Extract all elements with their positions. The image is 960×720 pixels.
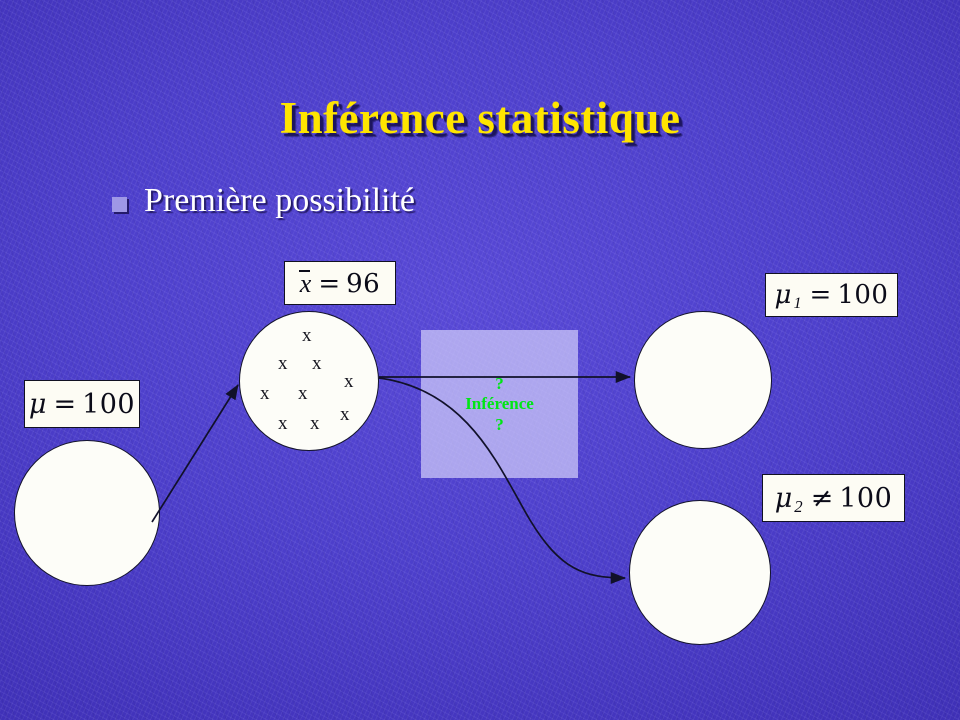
sample-observation: x bbox=[278, 354, 288, 373]
population-to-sample-arrow bbox=[152, 385, 238, 522]
sample-observation: x bbox=[310, 414, 320, 433]
hypothesis-2-value: 100 bbox=[839, 485, 892, 512]
population-operator: = bbox=[53, 391, 76, 418]
hypothesis-2-subscript: 2 bbox=[794, 499, 802, 516]
population-mean-value: 100 bbox=[82, 391, 135, 418]
hypothesis-2-circle[interactable] bbox=[629, 500, 771, 645]
population-circle[interactable] bbox=[14, 440, 160, 586]
hypothesis-1-value: 100 bbox=[837, 282, 888, 308]
sample-operator: = bbox=[318, 271, 340, 297]
sample-observation: x bbox=[302, 326, 312, 345]
bullet-row: Première possibilité bbox=[112, 182, 415, 220]
population-mu-symbol: μ bbox=[29, 391, 47, 418]
inference-panel: ? Inférence ? bbox=[421, 330, 578, 478]
sample-observation: x bbox=[312, 354, 322, 373]
square-bullet-icon bbox=[112, 197, 127, 212]
page-title: Inférence statistique bbox=[0, 92, 960, 144]
sample-xbar-symbol: x bbox=[300, 269, 312, 297]
hypothesis-1-subscript: 1 bbox=[793, 296, 801, 312]
slide-canvas: Inférence statistique Première possibili… bbox=[0, 0, 960, 720]
sample-observation: x bbox=[344, 372, 354, 391]
hypothesis-1-box: μ1 = 100 bbox=[765, 273, 898, 317]
sample-circle[interactable]: x x x x x x x x x bbox=[239, 311, 379, 451]
sample-mean-value: 96 bbox=[346, 271, 380, 297]
sample-observation: x bbox=[260, 384, 270, 403]
population-mean-box: μ = 100 bbox=[24, 380, 140, 428]
inference-question-top: ? bbox=[495, 374, 504, 393]
hypothesis-1-operator: = bbox=[810, 282, 832, 308]
hypothesis-2-box: μ2 ≠ 100 bbox=[762, 474, 905, 522]
inference-label: Inférence bbox=[465, 394, 534, 413]
inference-question-bottom: ? bbox=[495, 415, 504, 434]
hypothesis-2-operator: ≠ bbox=[811, 485, 834, 512]
sample-observation: x bbox=[278, 414, 288, 433]
sample-observation: x bbox=[298, 384, 308, 403]
hypothesis-1-circle[interactable] bbox=[634, 311, 772, 449]
bullet-text: Première possibilité bbox=[144, 182, 415, 220]
sample-mean-box: x = 96 bbox=[284, 261, 396, 305]
hypothesis-2-mu-symbol: μ bbox=[775, 485, 793, 512]
hypothesis-1-mu-symbol: μ bbox=[775, 282, 792, 308]
sample-observation: x bbox=[340, 405, 350, 424]
